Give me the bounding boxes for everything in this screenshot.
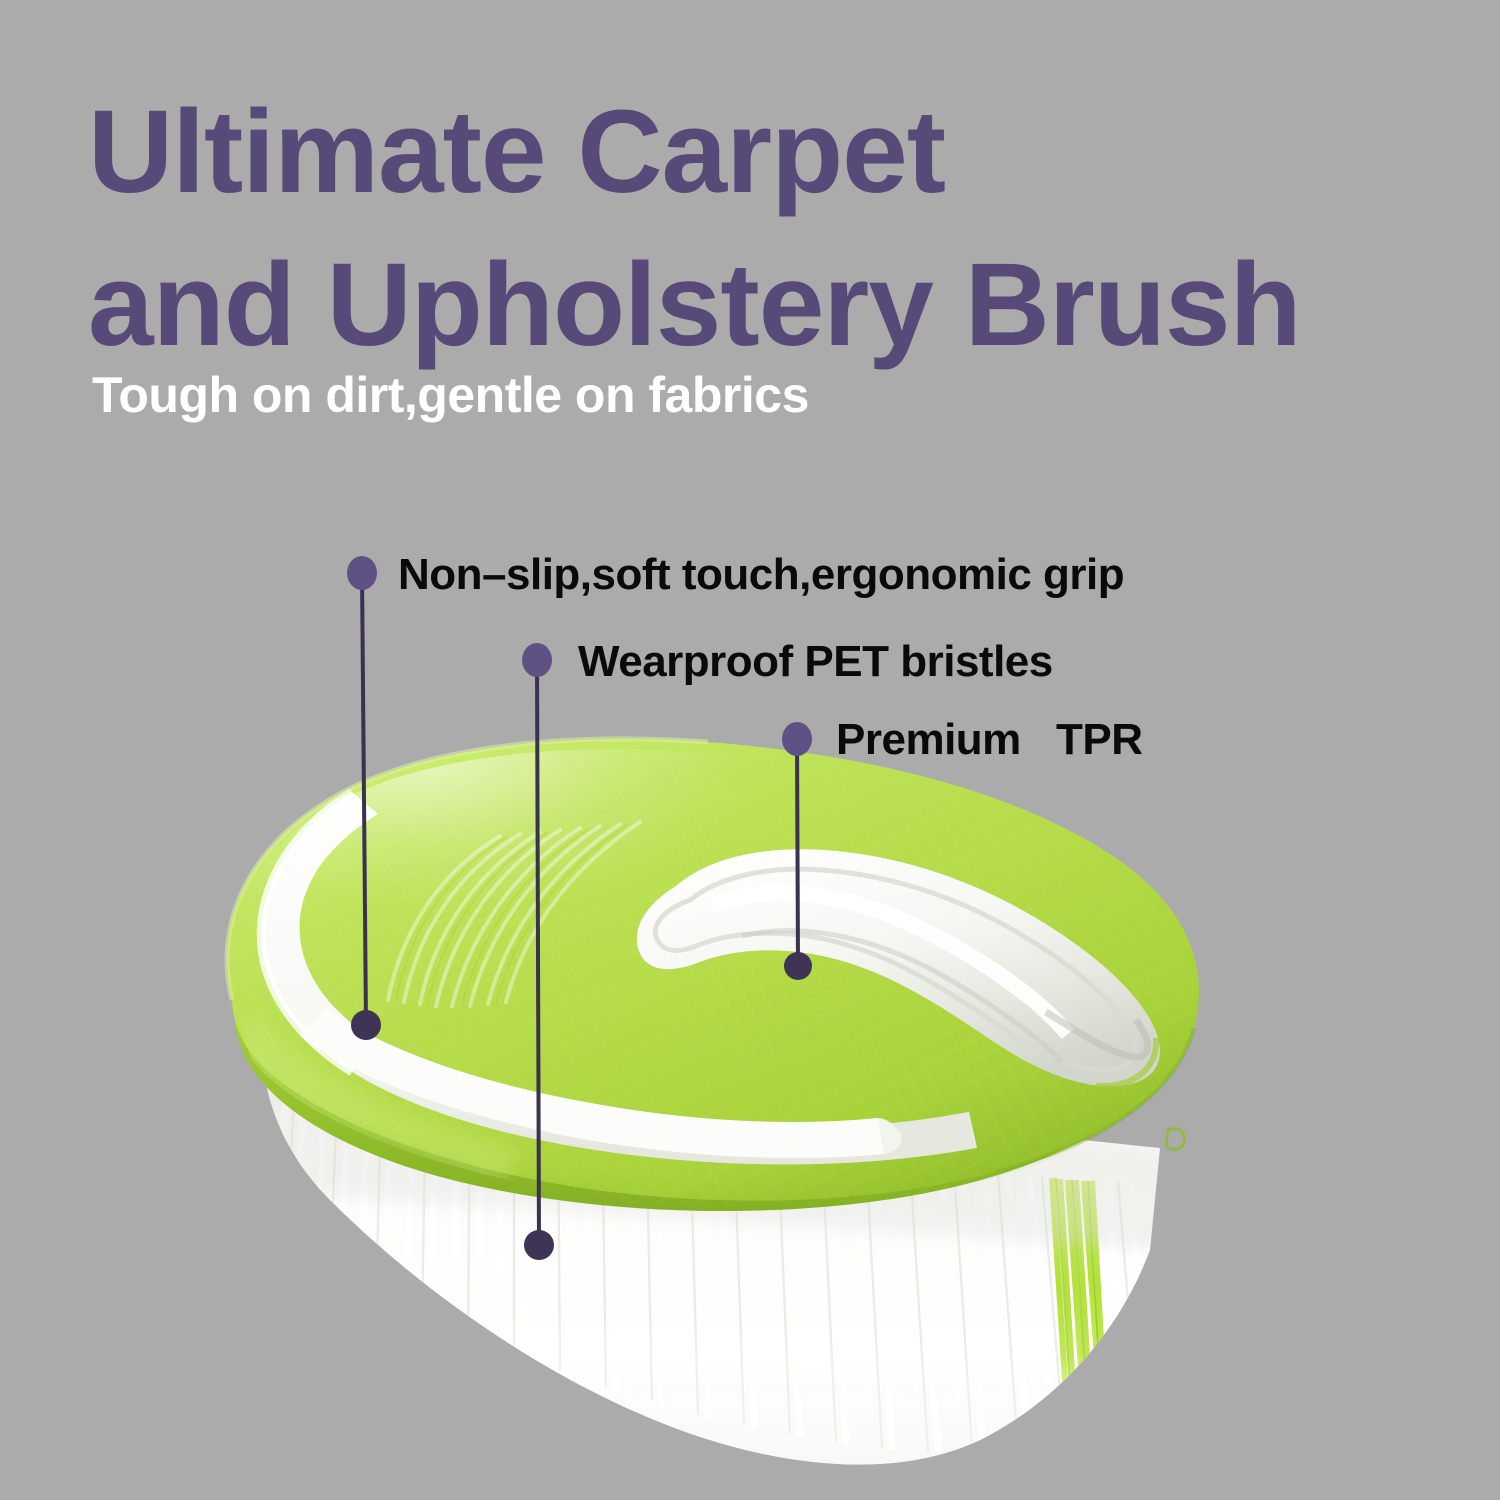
title-line-1: Ultimate Carpet — [88, 76, 1448, 229]
callout-label-grip: Non–slip,soft touch,ergonomic grip — [398, 550, 1124, 600]
product-infographic: Ultimate Carpet and Upholstery Brush Tou… — [0, 0, 1500, 1500]
page-subtitle: Tough on dirt,gentle on fabrics — [92, 366, 809, 424]
title-line-2: and Upholstery Brush — [88, 229, 1448, 382]
callout-label-tpr: Premium TPR — [836, 715, 1142, 765]
callout-label-bristles: Wearproof PET bristles — [578, 637, 1053, 687]
page-title: Ultimate Carpet and Upholstery Brush — [88, 76, 1448, 383]
